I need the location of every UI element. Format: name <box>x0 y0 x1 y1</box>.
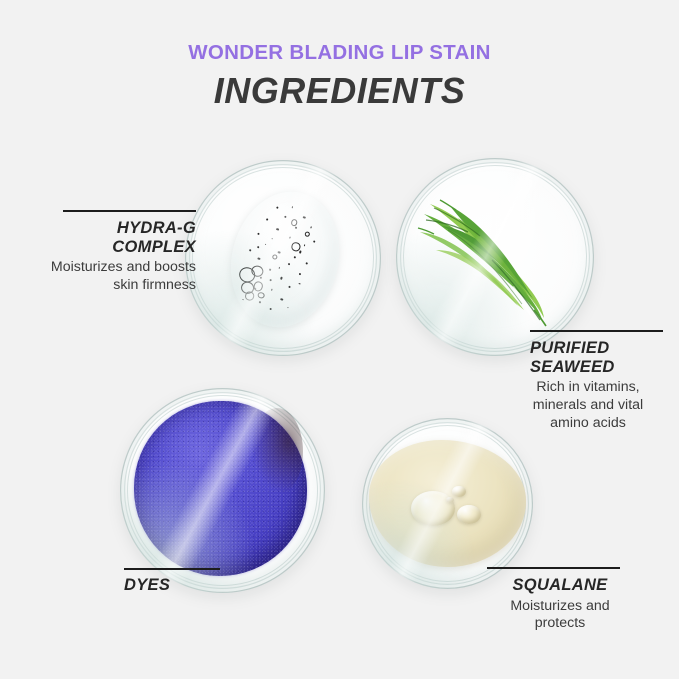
page-title: INGREDIENTS <box>0 70 679 111</box>
callout-title-line-2: COMPLEX <box>24 238 196 257</box>
dish-contents-squalane-oil <box>362 418 533 589</box>
callout-title-hydra-g: HYDRA-G COMPLEX <box>24 219 196 257</box>
petri-dish-purified-seaweed <box>396 158 594 356</box>
callout-hydra-g-complex: HYDRA-G COMPLEX Moisturizes and boosts s… <box>24 210 196 295</box>
oil-droplet-medium <box>457 505 481 524</box>
callout-description-seaweed: Rich in vitamins, minerals and vital ami… <box>513 379 663 433</box>
callout-description-squalane: Moisturizes and protects <box>487 598 633 634</box>
ingredients-infographic: WONDER BLADING LIP STAIN INGREDIENTS <box>0 0 679 679</box>
leader-line-seaweed <box>530 330 663 332</box>
callout-title-line-1: HYDRA-G <box>24 219 196 238</box>
callout-title-dyes: DYES <box>112 576 262 595</box>
petri-dish-dyes <box>120 388 325 593</box>
leader-line-squalane <box>487 567 620 569</box>
callout-title-line-2: SEAWEED <box>530 358 663 377</box>
squalane-oil-pool <box>369 440 526 567</box>
callout-title-squalane: SQUALANE <box>487 576 633 595</box>
gel-blob <box>217 181 353 340</box>
callout-purified-seaweed: PURIFIED SEAWEED Rich in vitamins, miner… <box>530 330 663 433</box>
leader-line-dyes <box>124 568 220 570</box>
petri-dish-squalane <box>362 418 533 589</box>
seaweed-illustration <box>396 158 594 356</box>
callout-description-hydra-g: Moisturizes and boosts skin firmness <box>24 259 196 295</box>
dish-contents-seaweed <box>396 158 594 356</box>
petri-dish-hydra-g <box>185 160 381 356</box>
powder-shadow <box>251 408 303 495</box>
product-eyebrow: WONDER BLADING LIP STAIN <box>0 42 679 65</box>
callout-title-line-1: PURIFIED <box>530 339 663 358</box>
oil-droplet-large <box>411 491 455 526</box>
callout-squalane: SQUALANE Moisturizes and protects <box>487 567 633 633</box>
callout-dyes: DYES <box>112 568 262 595</box>
dish-contents-dye-powder <box>120 388 325 593</box>
oil-droplet-small <box>452 486 466 497</box>
blue-dye-powder <box>134 401 306 575</box>
leader-line-hydra-g <box>63 210 196 212</box>
dish-contents-gel <box>185 160 381 356</box>
callout-title-seaweed: PURIFIED SEAWEED <box>530 339 663 377</box>
page-heading: WONDER BLADING LIP STAIN INGREDIENTS <box>0 42 679 111</box>
